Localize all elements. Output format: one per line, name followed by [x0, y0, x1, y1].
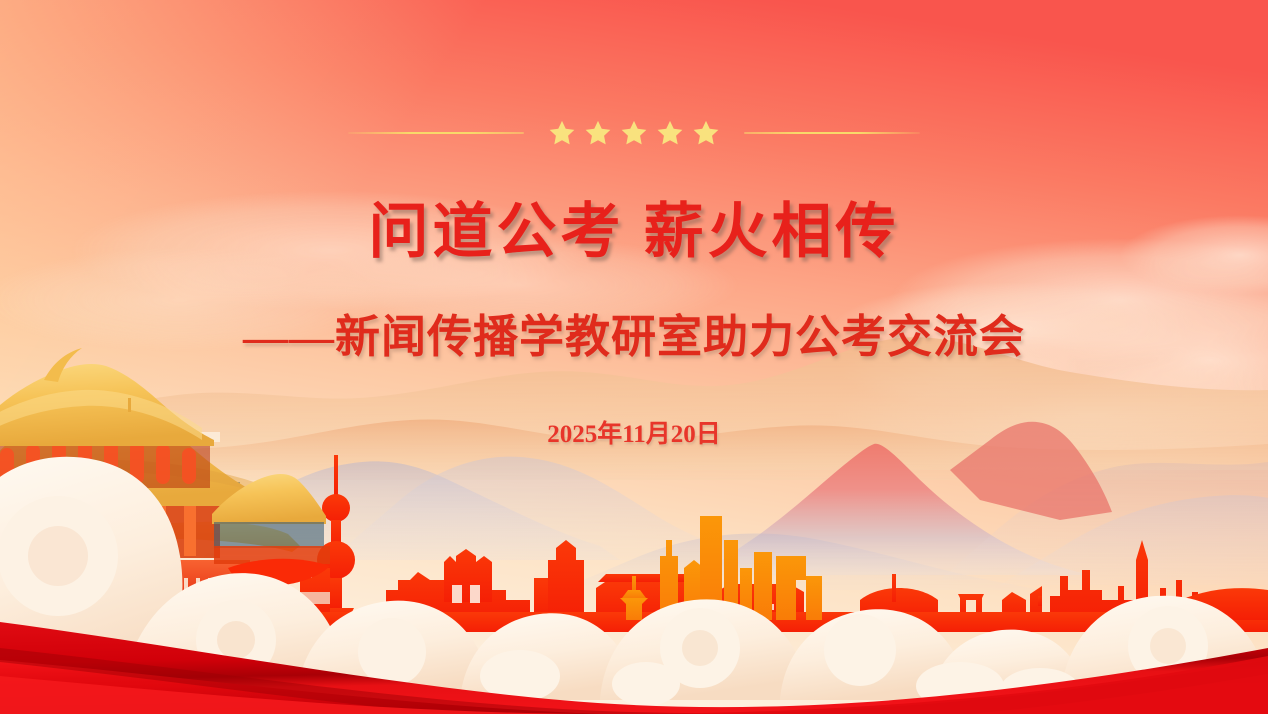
poster-background-artwork — [0, 0, 1268, 714]
poster-canvas: 问道公考 薪火相传 ——新闻传播学教研室助力公考交流会 2025年11月20日 — [0, 0, 1268, 714]
